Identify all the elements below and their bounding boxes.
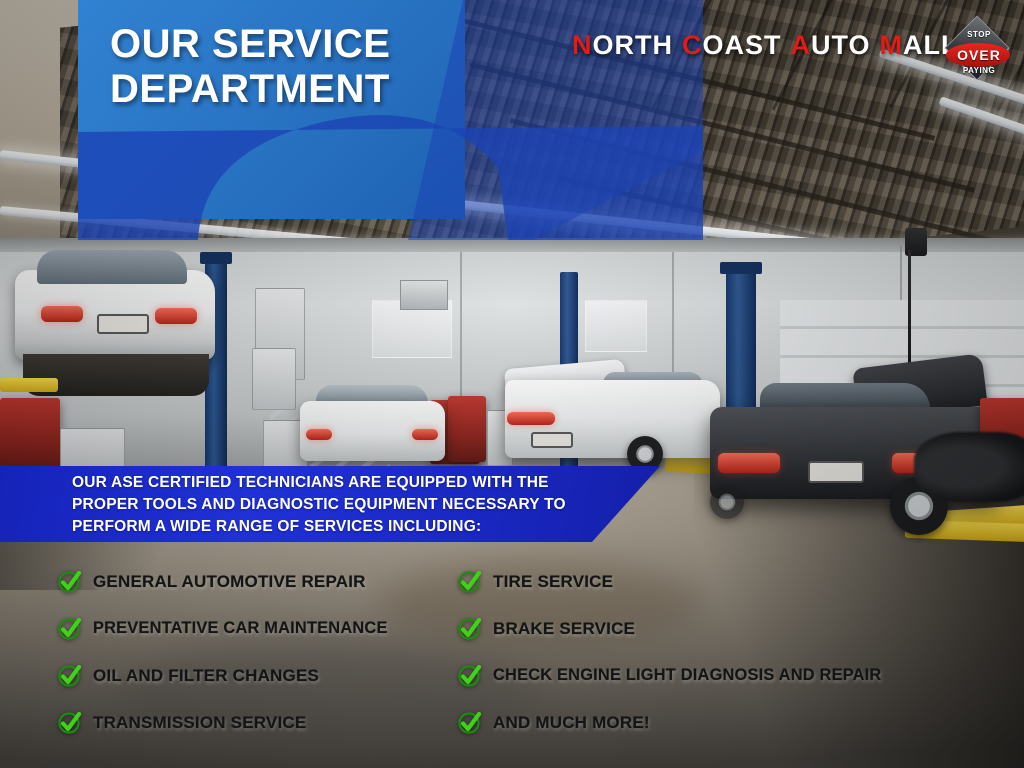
wall-light-panel	[585, 300, 647, 352]
wheel	[710, 485, 744, 519]
list-item[interactable]: AND MUCH MORE!	[458, 699, 978, 746]
logo-word-north: NORTH	[572, 30, 673, 61]
service-label: CHECK ENGINE LIGHT DIAGNOSIS AND REPAIR	[493, 666, 881, 685]
list-item[interactable]: PREVENTATIVE CAR MAINTENANCE	[58, 605, 478, 652]
taillight	[41, 306, 83, 322]
service-label: PREVENTATIVE CAR MAINTENANCE	[93, 619, 388, 638]
check-icon	[58, 712, 82, 734]
list-item[interactable]: TRANSMISSION SERVICE	[58, 699, 478, 746]
taillight	[412, 429, 438, 440]
lift-post-cap	[720, 262, 762, 274]
service-label: GENERAL AUTOMOTIVE REPAIR	[93, 572, 366, 592]
list-item[interactable]: BRAKE SERVICE	[458, 605, 978, 652]
car-rear-glass	[37, 250, 187, 284]
page-title-line-2: DEPARTMENT	[110, 67, 440, 112]
tool-chest	[448, 396, 486, 462]
list-item[interactable]: TIRE SERVICE	[458, 558, 978, 605]
page-title-line-1: OUR SERVICE	[110, 22, 440, 67]
badge-line-over: OVER	[946, 47, 1012, 63]
logo-word-coast: COAST	[682, 30, 782, 61]
service-label: TRANSMISSION SERVICE	[93, 713, 306, 733]
badge-line-stop: STOP	[946, 30, 1012, 39]
stop-over-paying-badge: STOP OVER PAYING	[946, 23, 1012, 89]
list-item[interactable]: OIL AND FILTER CHANGES	[58, 652, 478, 699]
vehicle-white-sedan	[300, 385, 445, 460]
license-plate	[808, 461, 864, 483]
license-plate	[97, 314, 149, 334]
service-label: TIRE SERVICE	[493, 572, 613, 592]
service-department-banner: OUR SERVICE DEPARTMENT NORTH COAST AUTO …	[0, 0, 1024, 768]
electrical-panel	[252, 348, 296, 410]
logo-cap-c: C	[682, 30, 703, 60]
statement-banner-text: OUR ASE CERTIFIED TECHNICIANS ARE EQUIPP…	[72, 472, 612, 538]
taillight	[718, 453, 780, 473]
check-icon	[58, 571, 82, 593]
logo-cap-m: M	[880, 30, 904, 60]
check-icon	[458, 618, 482, 640]
service-list-right: TIRE SERVICE BRAKE SERVICE CHECK ENGINE …	[458, 558, 978, 746]
tool-chest	[0, 398, 60, 473]
taillight	[155, 308, 197, 324]
logo-cap-n: N	[572, 30, 593, 60]
taillight	[306, 429, 332, 440]
tire-foreground	[914, 432, 1024, 502]
logo-cap-a: A	[791, 30, 812, 60]
wall-vent	[400, 280, 448, 310]
logo-rest-orth: ORTH	[593, 30, 674, 60]
check-icon	[458, 712, 482, 734]
service-label: AND MUCH MORE!	[493, 713, 650, 733]
vehicle-white-suv	[505, 358, 720, 473]
logo-word-auto: AUTO	[791, 30, 871, 61]
taillight	[507, 412, 555, 425]
lift-arm	[0, 378, 58, 392]
drop-hose	[908, 250, 911, 365]
check-icon	[58, 618, 82, 640]
service-label: OIL AND FILTER CHANGES	[93, 666, 319, 686]
list-item[interactable]: CHECK ENGINE LIGHT DIAGNOSIS AND REPAIR	[458, 652, 978, 699]
service-list-left: GENERAL AUTOMOTIVE REPAIR PREVENTATIVE C…	[58, 558, 478, 746]
page-title: OUR SERVICE DEPARTMENT	[110, 22, 440, 112]
badge-line-paying: PAYING	[946, 66, 1012, 75]
logo-rest-uto: UTO	[811, 30, 871, 60]
check-icon	[458, 571, 482, 593]
license-plate	[531, 432, 573, 448]
logo-rest-oast: OAST	[703, 30, 782, 60]
check-icon	[58, 665, 82, 687]
service-label: BRAKE SERVICE	[493, 619, 635, 639]
list-item[interactable]: GENERAL AUTOMOTIVE REPAIR	[58, 558, 478, 605]
brand-logo[interactable]: NORTH COAST AUTO MALL	[572, 30, 968, 61]
check-icon	[458, 665, 482, 687]
